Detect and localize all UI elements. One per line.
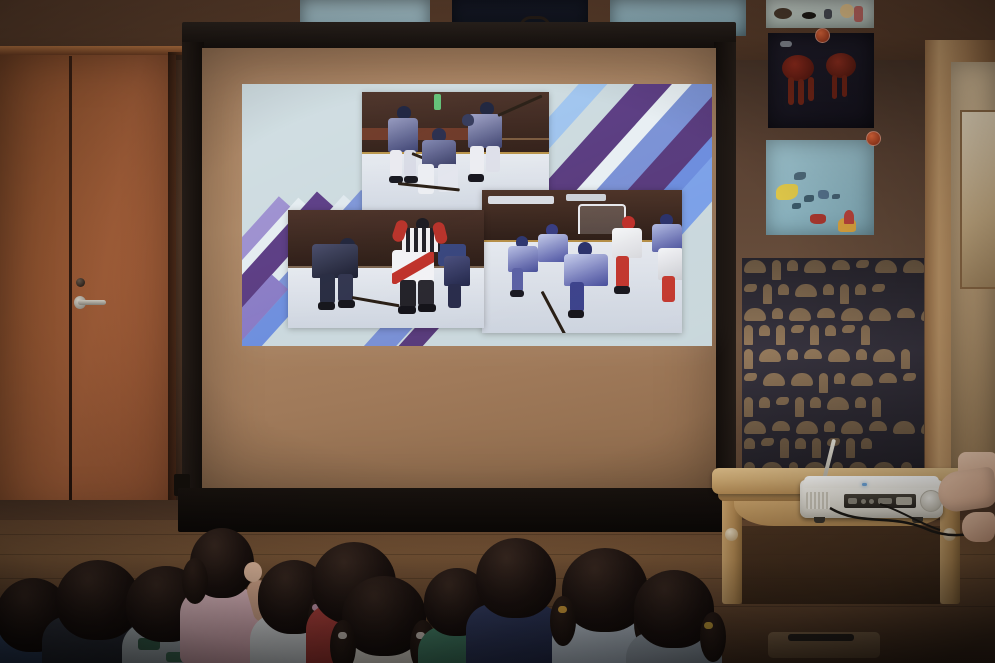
wallpaper-hippo-icon	[869, 421, 887, 431]
door-handle[interactable]	[78, 300, 106, 305]
wallpaper-row	[742, 395, 924, 419]
wallpaper-bunny-icon	[744, 438, 755, 449]
door-lock-icon[interactable]	[76, 278, 85, 287]
wallpaper-elephant-icon	[828, 349, 850, 362]
wallpaper-row	[742, 306, 924, 323]
wallpaper-bird-icon	[776, 397, 789, 405]
wallpaper-bunny-icon	[856, 349, 867, 360]
wallpaper-bunny-icon	[855, 284, 866, 295]
bag-strap	[788, 634, 854, 641]
wallpaper-bunny-icon	[810, 397, 821, 408]
wallpaper-elephant-icon	[827, 397, 849, 410]
wallpaper-bunny-icon	[825, 325, 836, 336]
wallpaper-hippo-icon	[804, 349, 822, 359]
slide-photo-faceoff	[288, 210, 484, 328]
wallpaper-hippo-icon	[897, 308, 915, 318]
wallpaper-giraffe-icon	[744, 397, 753, 417]
wallpaper-bunny-icon	[795, 438, 806, 449]
wallpaper-bunny-icon	[759, 397, 770, 408]
wallpaper-hippo-icon	[817, 308, 835, 318]
side-door-glass	[960, 110, 995, 289]
wallpaper-giraffe-icon	[744, 349, 753, 369]
wallpaper-elephant-icon	[869, 308, 891, 321]
artwork-pin-blue	[866, 131, 881, 146]
wallpaper-bunny-icon	[855, 397, 866, 408]
wallpaper-giraffe-icon	[795, 397, 804, 417]
wallpaper-elephant-icon	[744, 308, 766, 321]
wallpaper-giraffe-icon	[812, 438, 821, 458]
artwork-strip	[766, 0, 874, 28]
screen-top-bar	[182, 22, 736, 50]
screen-left-post	[182, 42, 204, 512]
wallpaper-bird-icon	[872, 284, 885, 292]
artwork-blue-poster	[766, 140, 874, 235]
wallpaper-bird-icon	[903, 373, 916, 381]
wallpaper-hippo-icon	[832, 260, 850, 270]
wallpaper-elephant-icon	[851, 373, 873, 386]
wallpaper-giraffe-icon	[780, 438, 789, 458]
artwork-dark-poster	[768, 33, 874, 128]
wallpaper-giraffe-icon	[840, 284, 849, 304]
wallpaper-bunny-icon	[823, 284, 834, 295]
wallpaper-bird-icon	[842, 325, 855, 333]
screen-right-post	[714, 42, 736, 512]
wallpaper-elephant-icon	[841, 421, 863, 434]
door-header-trim	[0, 46, 182, 55]
wallpaper-elephant-icon	[893, 421, 915, 434]
wallpaper-elephant-icon	[875, 260, 897, 273]
entry-door[interactable]	[0, 52, 176, 522]
child-ponytail	[182, 558, 208, 604]
wallpaper-elephant-icon	[763, 373, 785, 386]
artwork-pin-top	[815, 28, 830, 43]
wallpaper-giraffe-icon	[810, 325, 819, 345]
wallpaper-bunny-icon	[787, 349, 798, 360]
door-seam	[69, 56, 72, 518]
wallpaper-bunny-icon	[772, 308, 783, 319]
wallpaper-bunny-icon	[787, 260, 798, 271]
wallpaper-giraffe-icon	[776, 325, 785, 345]
wallpaper-giraffe-icon	[872, 397, 881, 417]
wallpaper-bunny-icon	[824, 421, 835, 432]
wallpaper-giraffe-icon	[772, 260, 781, 280]
projector-top-panel	[804, 476, 939, 488]
wallpaper-bird-icon	[856, 260, 869, 268]
wallpaper-hippo-icon	[879, 373, 897, 383]
wallpaper-elephant-icon	[789, 308, 811, 321]
wallpaper-row	[742, 323, 924, 347]
wallpaper-bird-icon	[761, 438, 774, 446]
wallpaper-row	[742, 347, 924, 371]
wallpaper-bunny-icon	[778, 284, 789, 295]
wallpaper-elephant-icon	[873, 349, 895, 362]
wallpaper-elephant-icon	[921, 308, 924, 321]
slide-photo-rush	[482, 190, 682, 333]
wallpaper-giraffe-icon	[819, 373, 828, 393]
table-screw-left	[725, 528, 738, 541]
wallpaper-hippo-icon	[772, 421, 790, 431]
wallpaper-elephant-icon	[903, 260, 924, 273]
wallpaper-row	[742, 419, 924, 436]
wallpaper-giraffe-icon	[763, 284, 772, 304]
wallpaper-elephant-icon	[921, 421, 924, 434]
wallpaper-bunny-icon	[834, 373, 845, 384]
wallpaper-bunny-icon	[759, 325, 770, 336]
power-led-icon	[862, 483, 867, 486]
wallpaper-giraffe-icon	[861, 325, 870, 345]
projected-slide: FREE BLADES	[242, 84, 712, 346]
wallpaper-elephant-icon	[791, 373, 813, 386]
screen-bottom-bar	[178, 488, 740, 532]
wallpaper-bunny-icon	[861, 438, 872, 449]
wallpaper-elephant-icon	[744, 421, 766, 434]
adult-hand-lower	[962, 512, 995, 542]
wallpaper-bird-icon	[744, 373, 757, 381]
photo-scene: FREE BLADES	[0, 0, 995, 663]
wallpaper-elephant-icon	[804, 260, 826, 273]
wallpaper-row	[742, 282, 924, 306]
wallpaper-elephant-icon	[841, 308, 863, 321]
wallpaper-giraffe-icon	[846, 438, 855, 458]
wallpaper-giraffe-icon	[901, 349, 910, 369]
wallpaper-elephant-icon	[759, 349, 781, 362]
wallpaper-bird-icon	[791, 325, 804, 333]
wallpaper-giraffe-icon	[744, 325, 753, 345]
animal-wallpaper	[742, 258, 924, 490]
wallpaper-elephant-icon	[796, 421, 818, 434]
wallpaper-elephant-icon	[744, 260, 766, 273]
wallpaper-bird-icon	[744, 284, 757, 292]
wallpaper-row	[742, 258, 924, 282]
wallpaper-row	[742, 371, 924, 395]
wallpaper-elephant-icon	[795, 284, 817, 297]
